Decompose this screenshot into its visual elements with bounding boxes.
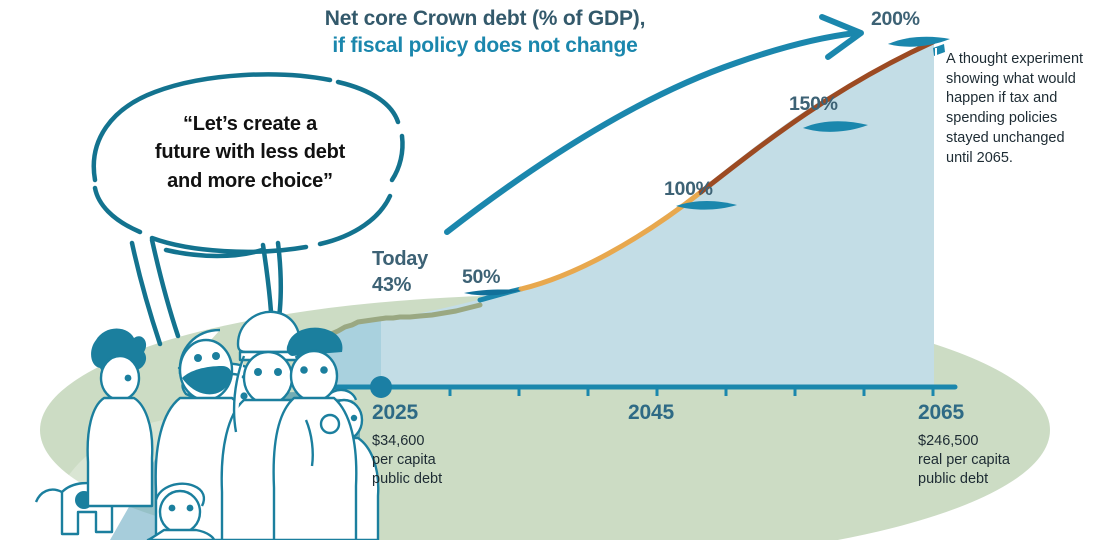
- today-value: 43%: [372, 272, 428, 298]
- year-2065-desc1: real per capita: [918, 451, 1088, 470]
- year-label-2045: 2045: [628, 401, 674, 425]
- year-2065-desc2: public debt: [918, 470, 1088, 489]
- axis-label-50: 50%: [462, 266, 500, 289]
- speech-bubble-text: “Let’s create a future with less debt an…: [110, 110, 390, 195]
- axis-label-100: 100%: [664, 178, 713, 201]
- year-2065-detail: $246,500 real per capita public debt: [918, 432, 1088, 489]
- year-2065-amount: $246,500: [918, 432, 1088, 451]
- year-2025-desc2: public debt: [372, 470, 522, 489]
- year-2025-detail: $34,600 per capita public debt: [372, 432, 522, 489]
- axis-label-200: 200%: [871, 8, 920, 31]
- year-2025-desc1: per capita: [372, 451, 522, 470]
- chart-title-line2: if fiscal policy does not change: [255, 33, 715, 60]
- speech-bubble-line3: and more choice”: [110, 167, 390, 195]
- today-label: Today: [372, 246, 428, 272]
- today-callout: Today 43%: [372, 246, 428, 299]
- speech-bubble-line2: future with less debt: [110, 138, 390, 166]
- year-label-2025: 2025: [372, 401, 418, 425]
- speech-bubble-line1: “Let’s create a: [110, 110, 390, 138]
- chart-title: Net core Crown debt (% of GDP), if fisca…: [255, 6, 715, 60]
- axis-label-150: 150%: [789, 93, 838, 116]
- year-label-2065: 2065: [918, 401, 964, 425]
- sidenote-text: A thought experiment showing what would …: [946, 50, 1086, 168]
- infographic-canvas: Net core Crown debt (% of GDP), if fisca…: [0, 0, 1104, 540]
- chart-title-line1: Net core Crown debt (% of GDP),: [255, 6, 715, 33]
- year-2025-amount: $34,600: [372, 432, 522, 451]
